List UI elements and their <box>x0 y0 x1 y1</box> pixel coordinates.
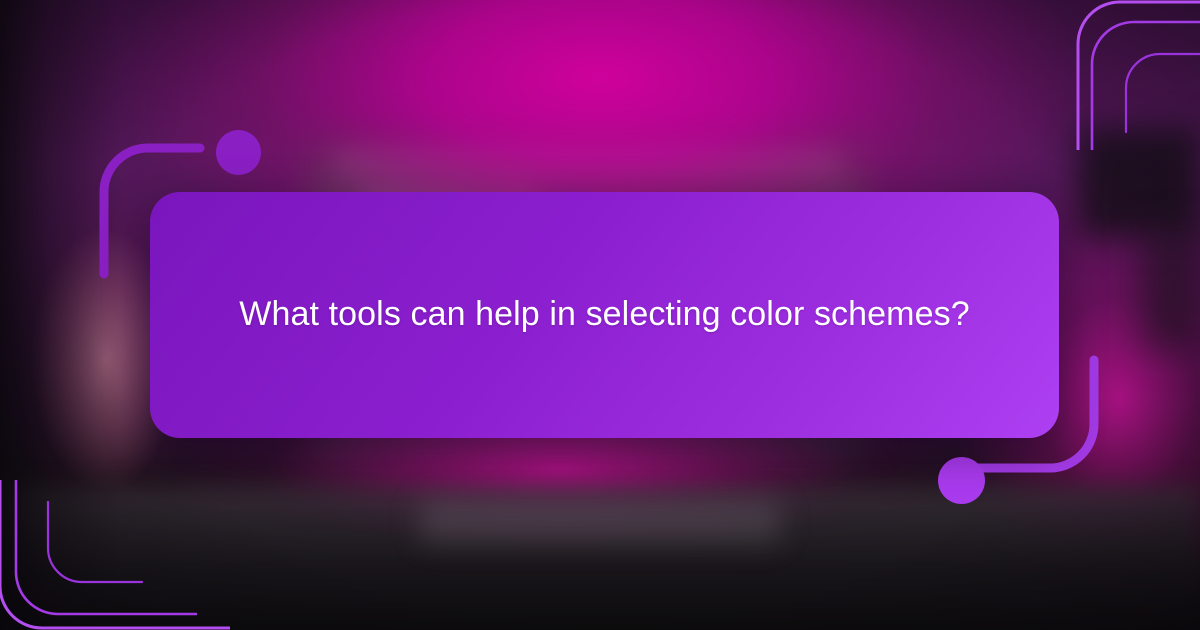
poster-canvas: What tools can help in selecting color s… <box>0 0 1200 630</box>
question-card: What tools can help in selecting color s… <box>150 192 1059 438</box>
accent-dot-bottom-icon <box>938 457 985 504</box>
corner-frame-top-right-icon <box>970 0 1200 150</box>
accent-dot-top-icon <box>216 130 261 175</box>
corner-frame-bottom-left-icon <box>0 480 230 630</box>
question-text: What tools can help in selecting color s… <box>239 287 969 342</box>
